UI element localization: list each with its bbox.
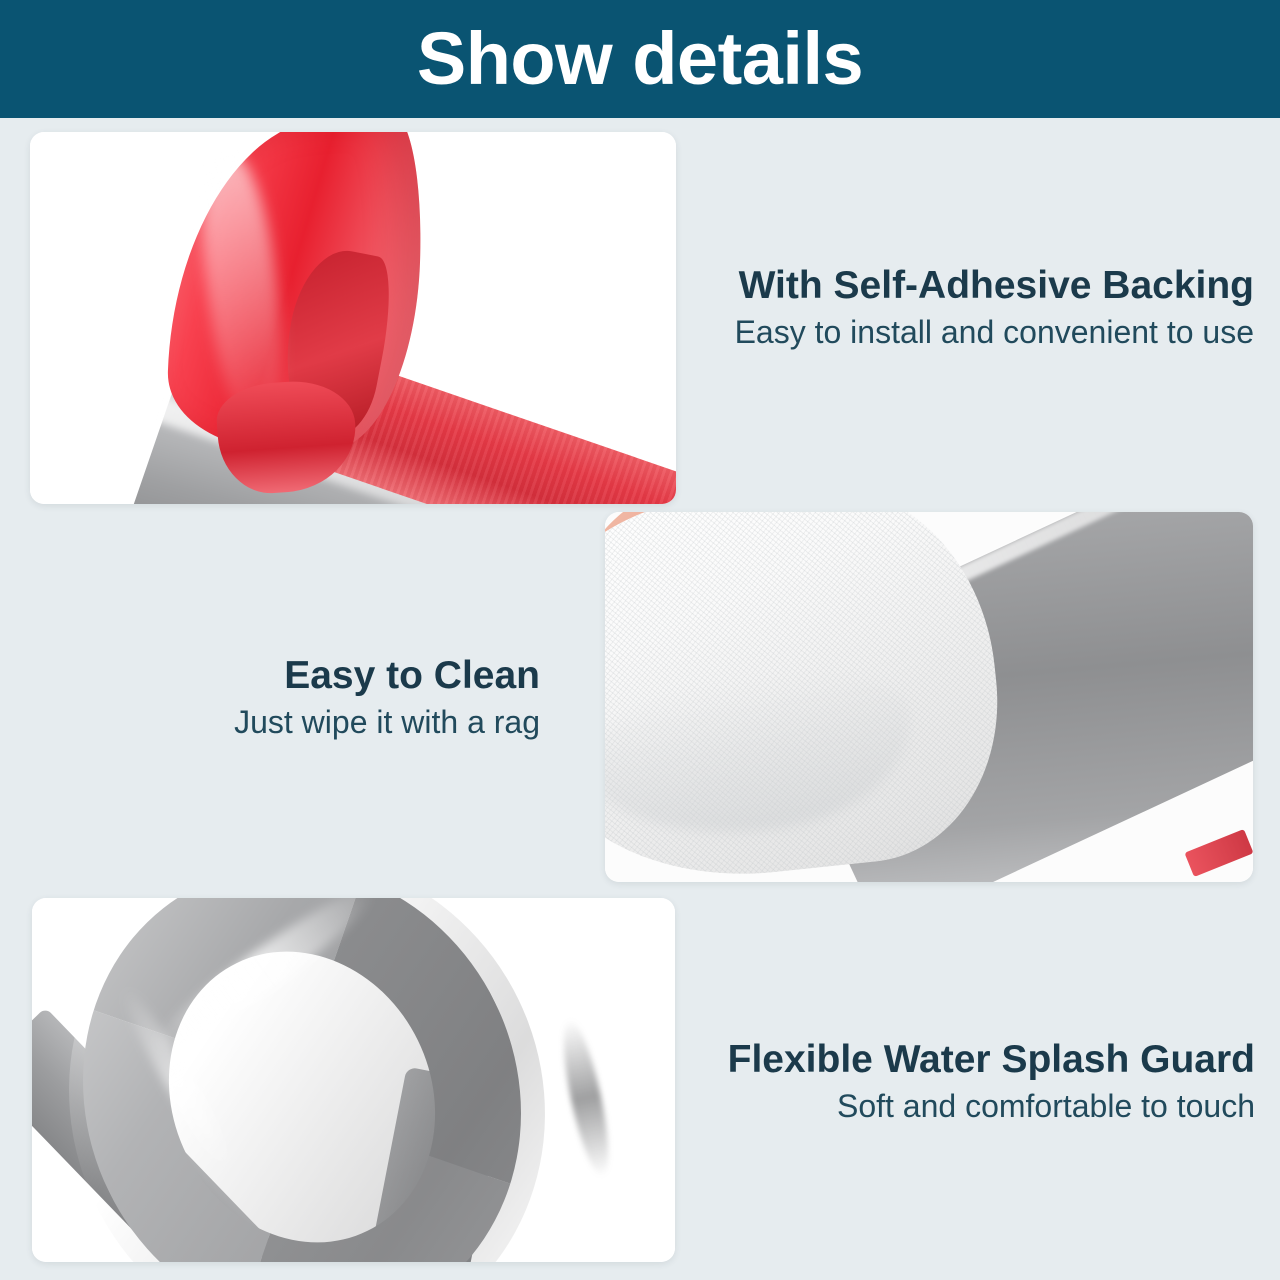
feature-subtitle-clean: Just wipe it with a rag	[60, 702, 540, 742]
feature-text-flexible: Flexible Water Splash Guard Soft and com…	[715, 1038, 1255, 1126]
feature-title-clean: Easy to Clean	[60, 654, 540, 698]
feature-image-adhesive	[30, 132, 676, 504]
page-header: Show details	[0, 0, 1280, 118]
feature-subtitle-flexible: Soft and comfortable to touch	[715, 1086, 1255, 1126]
feature-subtitle-adhesive: Easy to install and convenient to use	[700, 312, 1254, 352]
feature-image-clean	[605, 512, 1253, 882]
feature-text-clean: Easy to Clean Just wipe it with a rag	[60, 654, 540, 742]
feature-title-flexible: Flexible Water Splash Guard	[715, 1038, 1255, 1082]
feature-image-flexible	[32, 898, 675, 1262]
page-title: Show details	[417, 22, 863, 96]
feature-title-adhesive: With Self-Adhesive Backing	[700, 264, 1254, 308]
feature-text-adhesive: With Self-Adhesive Backing Easy to insta…	[700, 264, 1254, 352]
